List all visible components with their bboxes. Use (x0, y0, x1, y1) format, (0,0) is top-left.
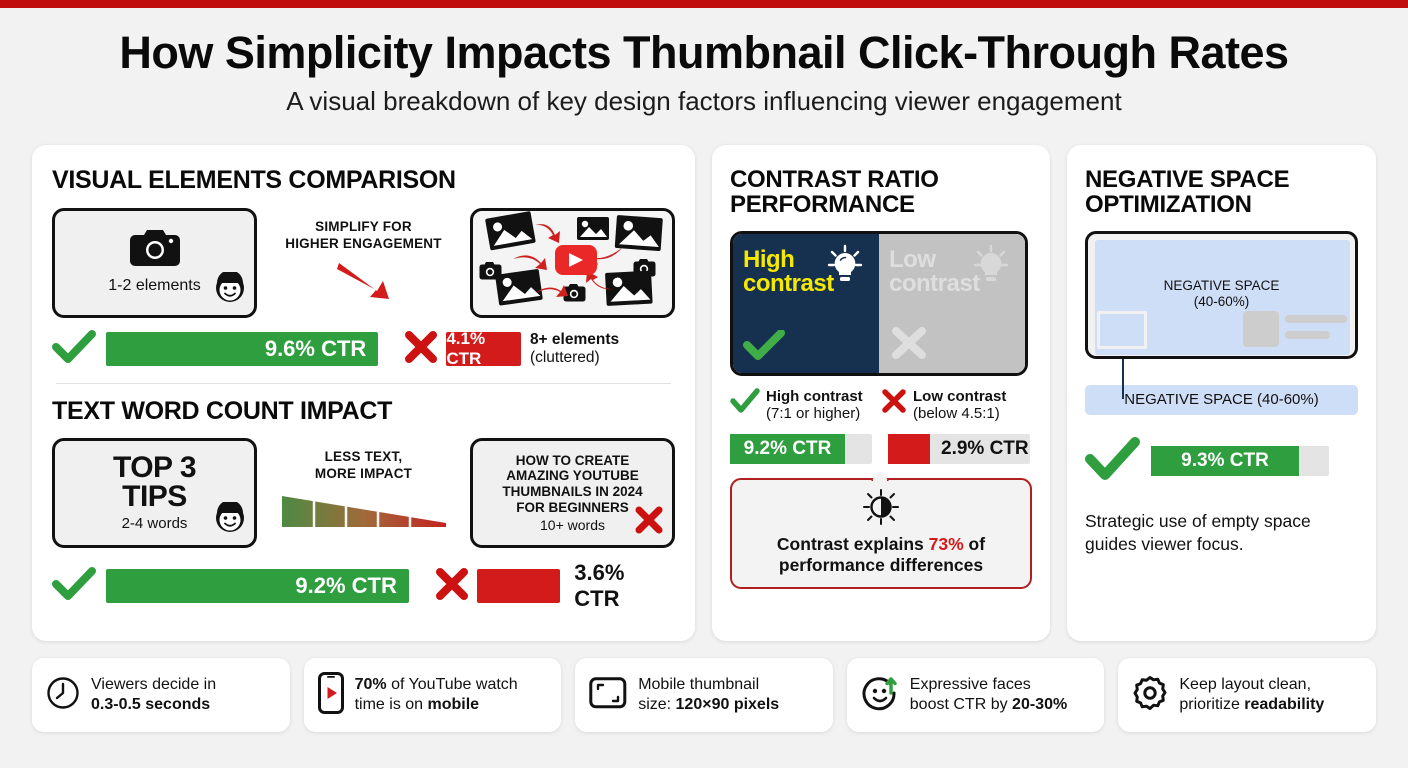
contrast-comparison-mock: High contrast Low contrast (730, 231, 1028, 376)
callout-notch (871, 471, 889, 481)
x-icon (404, 331, 438, 368)
gear-icon (1132, 675, 1168, 716)
clock-icon (46, 676, 80, 715)
text-comparison-row: TOP 3 TIPS 2-4 words LESS TEXT, MORE IMP… (52, 438, 675, 548)
panels-container: VISUAL ELEMENTS COMPARISON 1-2 elements … (32, 145, 1376, 641)
content-block-icon (1243, 311, 1279, 347)
simple-thumbnail-mock: 1-2 elements (52, 208, 257, 318)
fact-line1: Expressive faces (910, 675, 1067, 695)
footer-facts: Viewers decide in 0.3-0.5 seconds 70% of… (32, 658, 1376, 732)
fact-line1: Viewers decide in (91, 675, 216, 695)
legend-low-title: Low contrast (913, 388, 1006, 406)
good-ctr-bar-visual: 9.6% CTR (106, 332, 378, 366)
visual-comparison-row: 1-2 elements SIMPLIFY FOR HIGHER ENGAGEM… (52, 208, 675, 318)
low-contrast-half: Low contrast (879, 234, 1025, 373)
smiling-face-icon (214, 502, 246, 539)
simple-thumbnail-label: 1-2 elements (108, 277, 201, 295)
section-title-contrast-line2: PERFORMANCE (730, 192, 1032, 217)
short-text-line1: TOP 3 (113, 454, 196, 483)
fact-line1: Keep layout clean, (1179, 675, 1324, 695)
section-title-contrast-line1: CONTRAST RATIO (730, 167, 1032, 192)
x-icon (634, 506, 664, 539)
thumbnail-frame-icon (589, 677, 627, 714)
callout-highlight: 73% (929, 534, 964, 554)
short-text-line2: TIPS (113, 483, 196, 512)
short-text-thumbnail-mock: TOP 3 TIPS 2-4 words (52, 438, 257, 548)
callout-prefix: Contrast explains (777, 534, 929, 554)
fact-line1: of YouTube watch (387, 676, 518, 693)
fact-line2-bold: 20-30% (1012, 696, 1067, 713)
phone-play-icon (318, 672, 344, 719)
high-contrast-half: High contrast (733, 234, 879, 373)
fact-line2-plain: prioritize (1179, 696, 1244, 713)
simplify-text-line1: SIMPLIFY FOR (285, 219, 441, 236)
section-title-visual-elements: VISUAL ELEMENTS COMPARISON (52, 167, 675, 194)
fact-line2-bold: 120×90 pixels (676, 696, 780, 713)
fact-card-decision-time: Viewers decide in 0.3-0.5 seconds (32, 658, 290, 732)
contrast-icon (862, 512, 900, 529)
fact-line2-plain: boost CTR by (910, 696, 1012, 713)
legend-high-title: High contrast (766, 388, 863, 406)
negative-space-ctr-track: 9.3% CTR (1151, 446, 1329, 476)
check-icon (743, 330, 785, 365)
check-icon (52, 330, 96, 369)
contrast-ctr-bars: 9.2% CTR 2.9% CTR (730, 434, 1032, 464)
short-text-sub: 2-4 words (122, 515, 188, 532)
high-contrast-ctr-value: 9.2% CTR (730, 434, 845, 464)
long-text-sub: 10+ words (540, 517, 605, 533)
lightbulb-icon (973, 244, 1009, 291)
lightbulb-icon (827, 244, 863, 291)
fact-line2-bold: readability (1244, 696, 1324, 713)
top-accent-bar (0, 0, 1408, 8)
bad-ctr-bar-text (477, 569, 560, 603)
contrast-callout: Contrast explains 73% of performance dif… (730, 478, 1032, 589)
bad-note-line1: 8+ elements (530, 331, 619, 348)
panel-visual-elements: VISUAL ELEMENTS COMPARISON 1-2 elements … (32, 145, 695, 641)
bad-ctr-bar-visual: 4.1% CTR (446, 332, 521, 366)
contrast-legend: High contrast (7:1 or higher) Low contra… (730, 388, 1032, 423)
low-contrast-ctr-value: 2.9% CTR (941, 438, 1029, 460)
long-text-line2: AMAZING YOUTUBE (502, 468, 642, 484)
negative-space-callout-box (1097, 311, 1147, 349)
section-title-text-word-count: TEXT WORD COUNT IMPACT (52, 398, 675, 425)
long-text-line4: FOR BEGINNERS (502, 500, 642, 516)
visual-elements-ctr-bars: 9.6% CTR 4.1% CTR 8+ elements (cluttered… (52, 330, 675, 369)
section-divider (56, 383, 671, 384)
fact-line2-plain: time is on (355, 696, 428, 713)
check-icon (730, 388, 760, 419)
content-line-2 (1285, 331, 1330, 339)
good-ctr-bar-text: 9.2% CTR (106, 569, 409, 603)
legend-high-sub: (7:1 or higher) (766, 405, 860, 422)
cluttered-thumbnail-mock (470, 208, 675, 318)
fact-card-expressive-faces: Expressive faces boost CTR by 20-30% (847, 658, 1105, 732)
x-icon (435, 568, 469, 605)
negative-space-ctr-value: 9.3% CTR (1151, 446, 1299, 476)
low-contrast-ctr-fill (888, 434, 930, 464)
less-text-line2: MORE IMPACT (315, 466, 412, 483)
fact-line2-plain: size: (638, 696, 675, 713)
check-icon (1085, 437, 1141, 486)
bad-ctr-label-text: 3.6% CTR (574, 560, 675, 612)
smiley-arrow-icon (861, 674, 899, 717)
page-title: How Simplicity Impacts Thumbnail Click-T… (0, 28, 1408, 78)
smiling-face-icon (214, 272, 246, 309)
page-subtitle: A visual breakdown of key design factors… (0, 86, 1408, 117)
text-word-count-ctr-bars: 9.2% CTR 3.6% CTR (52, 560, 675, 612)
negative-space-tag: NEGATIVE SPACE (40-60%) (1085, 385, 1358, 415)
panel-negative-space: NEGATIVE SPACE OPTIMIZATION NEGATIVE SPA… (1067, 145, 1376, 641)
long-text-line1: HOW TO CREATE (502, 453, 642, 469)
section-title-negative-space-line2: OPTIMIZATION (1085, 192, 1358, 217)
content-line-1 (1285, 315, 1347, 323)
legend-item-high-contrast: High contrast (7:1 or higher) (730, 388, 881, 423)
fact-bold-lead: 70% (355, 676, 387, 693)
long-text-thumbnail-mock: HOW TO CREATE AMAZING YOUTUBE THUMBNAILS… (470, 438, 675, 548)
legend-item-low-contrast: Low contrast (below 4.5:1) (881, 388, 1032, 423)
low-contrast-ctr-track: 2.9% CTR (888, 434, 1030, 464)
fact-line1: Mobile thumbnail (638, 675, 779, 695)
callout-suffix: of (964, 534, 985, 554)
negative-space-label-line1: NEGATIVE SPACE (1088, 278, 1355, 294)
legend-low-sub: (below 4.5:1) (913, 405, 1000, 422)
section-title-negative-space-line1: NEGATIVE SPACE (1085, 167, 1358, 192)
fact-card-thumbnail-size: Mobile thumbnail size: 120×90 pixels (575, 658, 833, 732)
fact-card-readability: Keep layout clean, prioritize readabilit… (1118, 658, 1376, 732)
simplify-text-line2: HIGHER ENGAGEMENT (285, 236, 441, 253)
down-right-arrow-icon (333, 259, 395, 306)
fact-line2: 0.3-0.5 seconds (91, 696, 210, 713)
simplify-arrow-group: SIMPLIFY FOR HIGHER ENGAGEMENT (257, 219, 470, 306)
negative-space-mock: NEGATIVE SPACE (40-60%) (1085, 231, 1358, 359)
camera-icon (129, 226, 181, 273)
fact-line2-bold: mobile (428, 696, 480, 713)
bad-note-line2: (cluttered) (530, 349, 600, 366)
high-contrast-ctr-track: 9.2% CTR (730, 434, 872, 464)
negative-space-ctr-row: 9.3% CTR (1085, 437, 1358, 486)
fact-card-mobile-watch: 70% of YouTube watch time is on mobile (304, 658, 562, 732)
callout-line2: performance differences (742, 555, 1020, 576)
check-icon (52, 567, 96, 606)
negative-space-label-line2: (40-60%) (1088, 294, 1355, 310)
header: How Simplicity Impacts Thumbnail Click-T… (0, 28, 1408, 118)
x-icon (889, 326, 929, 365)
long-text-line3: THUMBNAILS IN 2024 (502, 484, 642, 500)
decreasing-gradient-icon (280, 490, 448, 537)
panel-contrast-ratio: CONTRAST RATIO PERFORMANCE High contrast… (712, 145, 1050, 641)
callout-connector-line (1122, 359, 1124, 399)
negative-space-note: Strategic use of empty space guides view… (1085, 510, 1358, 556)
less-text-line1: LESS TEXT, (315, 449, 412, 466)
x-icon (881, 388, 907, 419)
less-text-group: LESS TEXT, MORE IMPACT (257, 449, 470, 538)
